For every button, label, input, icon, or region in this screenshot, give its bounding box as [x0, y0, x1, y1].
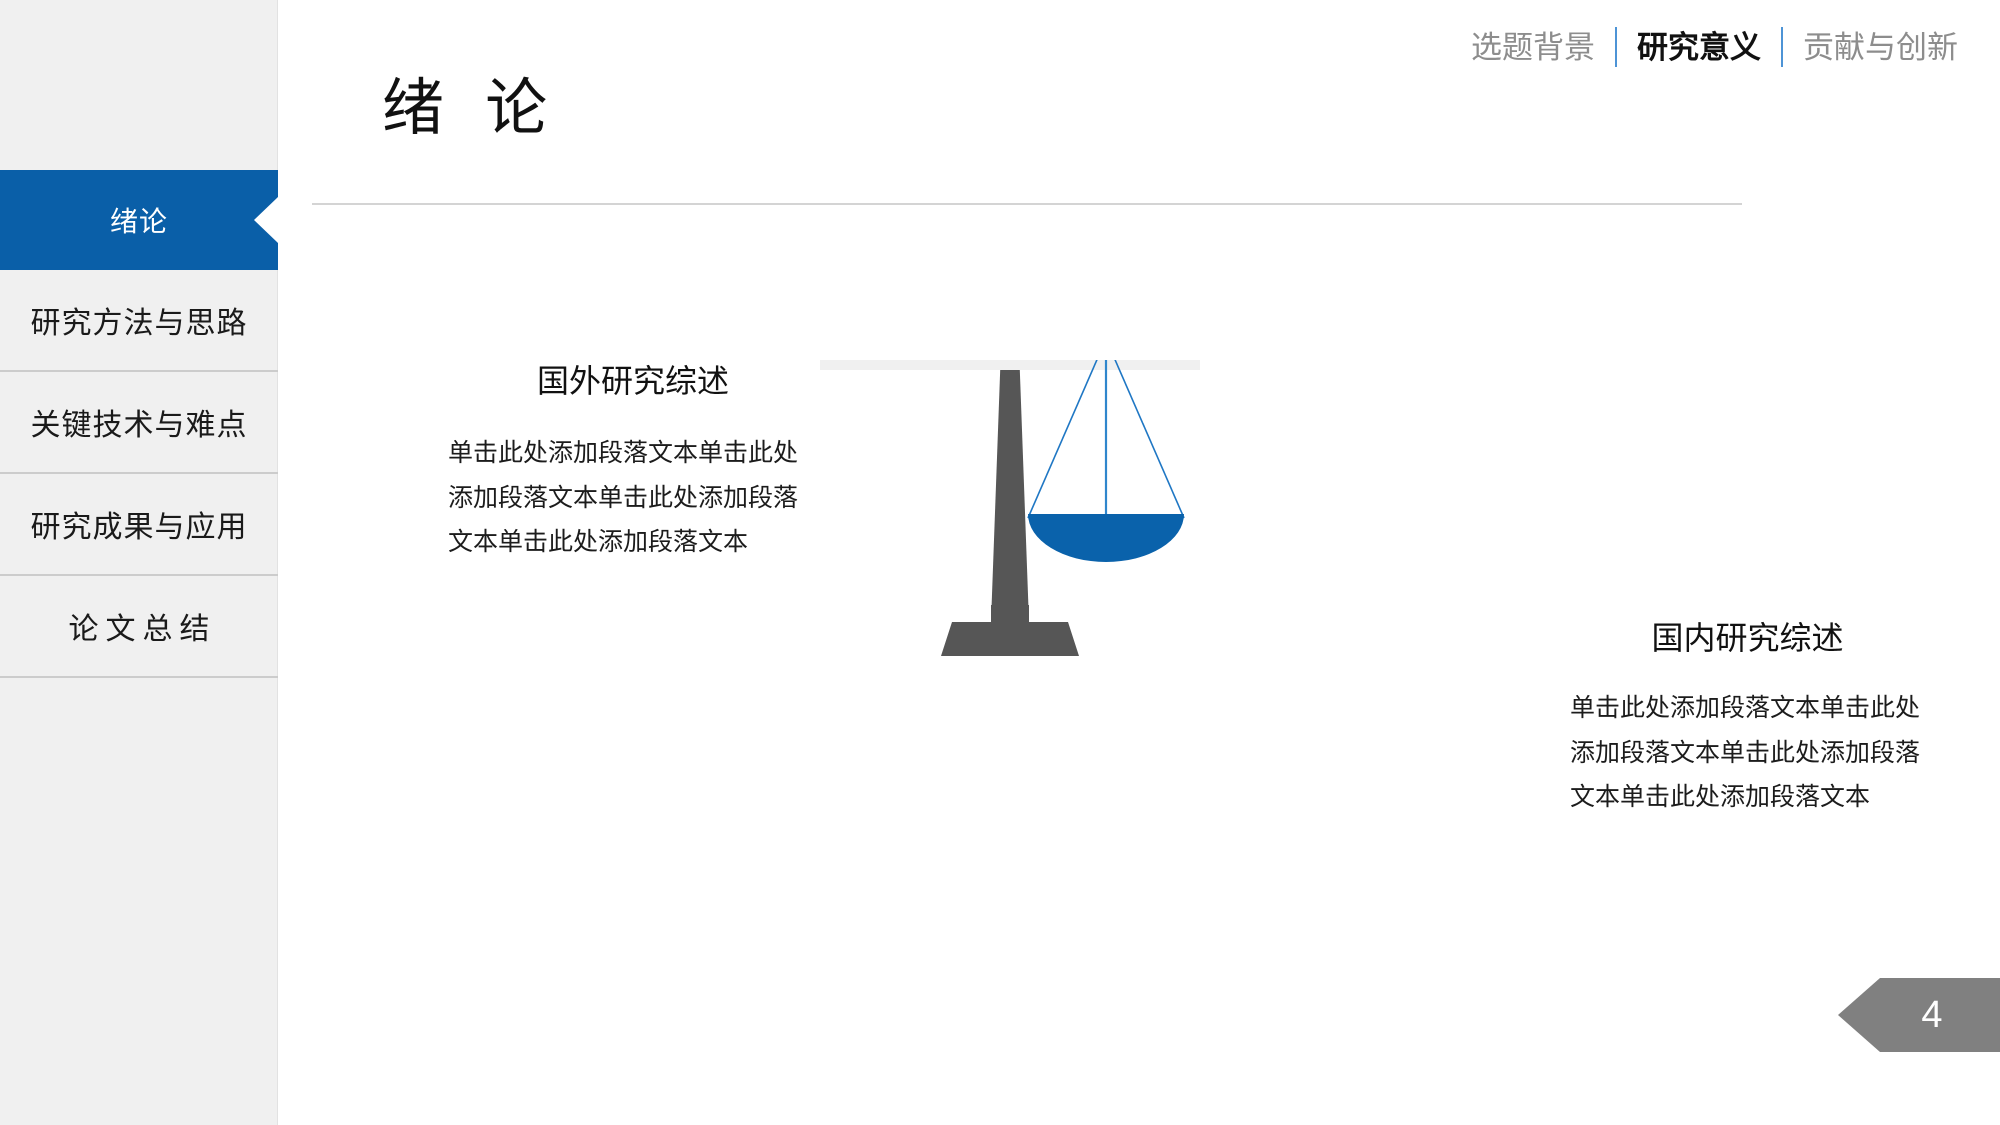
- scale-column-icon: [991, 360, 1029, 622]
- domestic-research-body: 单击此处添加段落文本单击此处添加段落文本单击此处添加段落文本单击此处添加段落文本: [1570, 686, 1925, 820]
- sidebar-navigation: 绪论 研究方法与思路 关键技术与难点 研究成果与应用 论文总结: [0, 0, 278, 1125]
- sidebar-item-guanjianjishu[interactable]: 关键技术与难点: [0, 372, 278, 474]
- balance-scale-illustration: [820, 360, 1200, 850]
- sidebar-item-label: 论文总结: [62, 604, 217, 648]
- sidebar-spacer-bottom: [0, 678, 278, 1125]
- domestic-research-block: 国内研究综述 单击此处添加段落文本单击此处添加段落文本单击此处添加段落文本单击此…: [1570, 622, 1925, 820]
- sidebar-item-lunwenzongjie[interactable]: 论文总结: [0, 576, 278, 678]
- sidebar-item-xulun[interactable]: 绪论: [0, 170, 278, 270]
- domestic-research-heading: 国内研究综述: [1570, 622, 1925, 654]
- sidebar-spacer-top: [0, 0, 278, 170]
- scale-beam-icon: [820, 360, 1200, 370]
- sidebar-item-label: 绪论: [110, 200, 168, 240]
- tab-gongxianyuchuangxin[interactable]: 贡献与创新: [1783, 32, 1978, 63]
- sidebar-item-label: 研究方法与思路: [31, 298, 248, 342]
- sidebar-item-yanjiufangfa[interactable]: 研究方法与思路: [0, 270, 278, 372]
- tab-yanjiuyiyi[interactable]: 研究意义: [1617, 32, 1781, 63]
- presentation-slide: 绪论 研究方法与思路 关键技术与难点 研究成果与应用 论文总结 选题背景 研究意…: [0, 0, 2000, 1125]
- overseas-research-heading: 国外研究综述: [448, 365, 818, 397]
- tab-xuantibeijing[interactable]: 选题背景: [1451, 32, 1615, 63]
- page-number-badge: 4: [1838, 978, 2000, 1052]
- active-pointer-icon: [254, 197, 278, 243]
- sidebar-item-label: 研究成果与应用: [31, 502, 248, 546]
- scale-right-pan-icon: [1028, 514, 1184, 562]
- sidebar-item-yanjiuchengguo[interactable]: 研究成果与应用: [0, 474, 278, 576]
- overseas-research-block: 国外研究综述 单击此处添加段落文本单击此处添加段落文本单击此处添加段落文本单击此…: [448, 365, 818, 565]
- section-tabs: 选题背景 研究意义 贡献与创新: [1451, 20, 1978, 74]
- title-divider: [312, 203, 1742, 205]
- page-number: 4: [1838, 978, 2000, 1052]
- page-title: 绪 论: [382, 78, 559, 140]
- sidebar-item-label: 关键技术与难点: [31, 400, 248, 444]
- overseas-research-body: 单击此处添加段落文本单击此处添加段落文本单击此处添加段落文本单击此处添加段落文本: [448, 431, 818, 565]
- scale-base-icon: [941, 605, 1079, 656]
